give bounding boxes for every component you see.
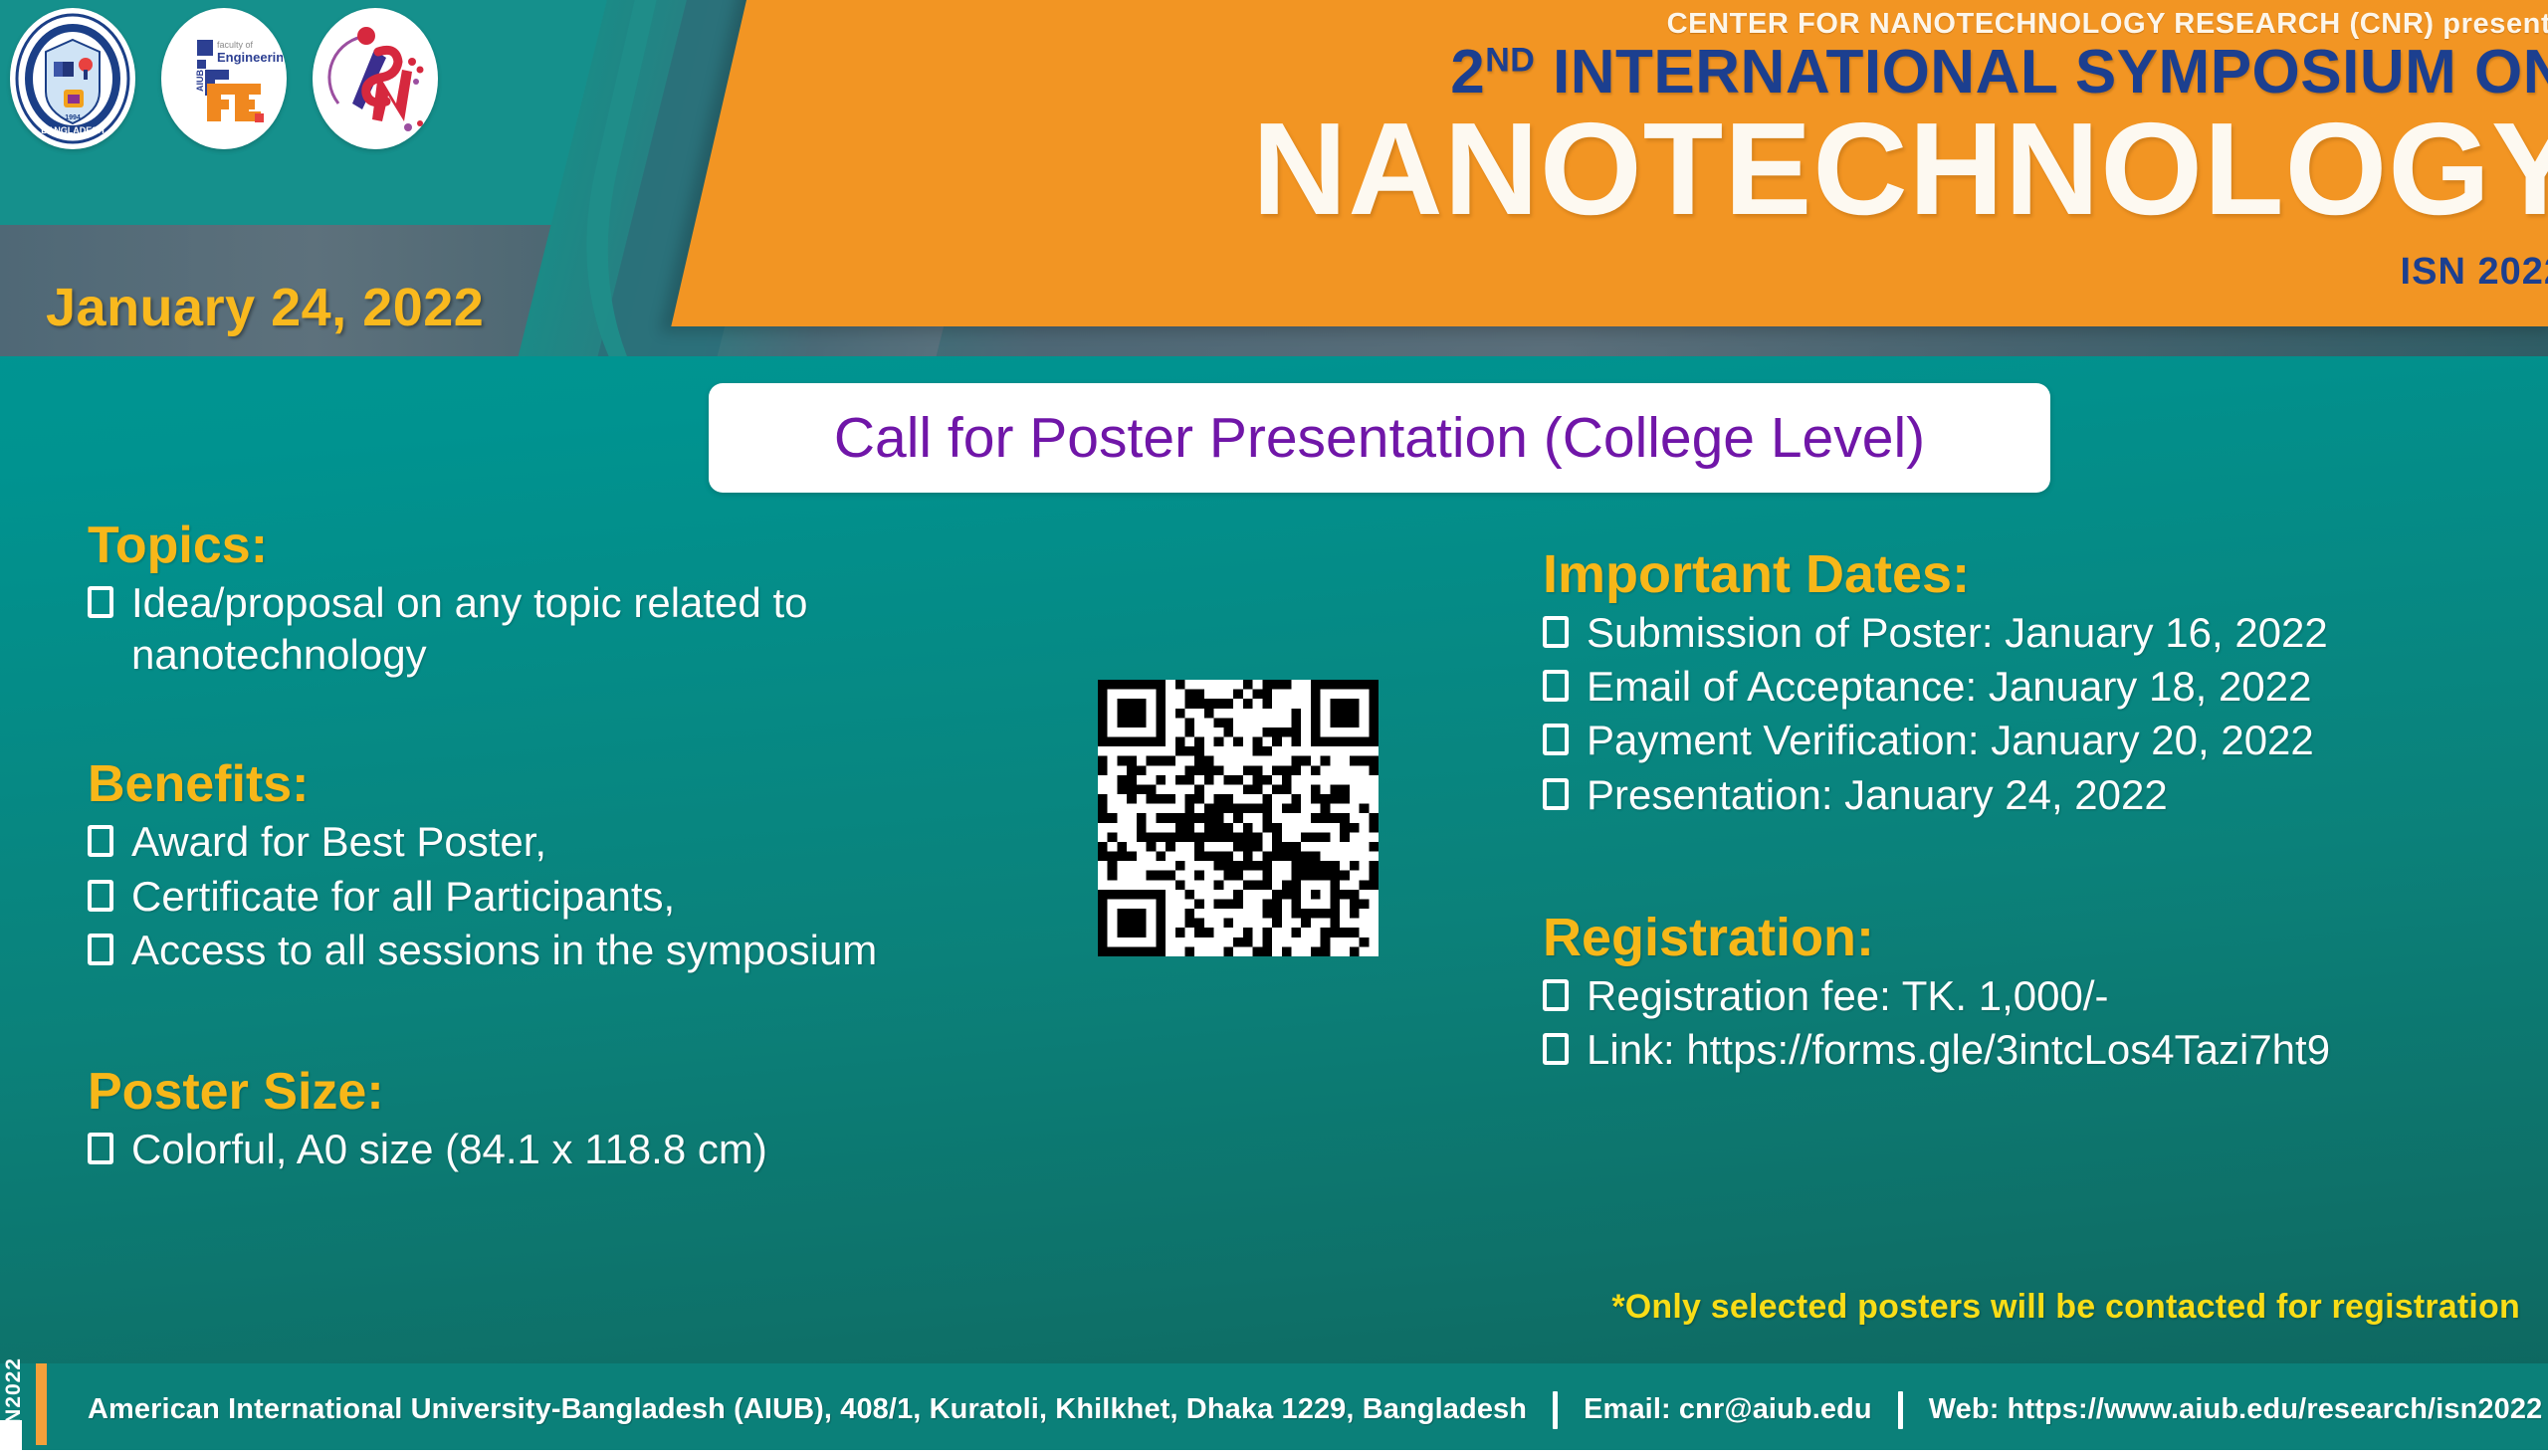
footer-separator [1553, 1391, 1558, 1429]
topics-heading: Topics: [88, 518, 1093, 573]
list-item: Idea/proposal on any topic related to na… [88, 577, 1093, 681]
poster-size-heading: Poster Size: [88, 1064, 1093, 1120]
list-item: Presentation: January 24, 2022 [1543, 769, 2518, 821]
list-item: Certificate for all Participants, [88, 871, 1093, 923]
main-title: NANOTECHNOLOGY [1252, 104, 2548, 235]
important-dates-heading: Important Dates: [1543, 545, 2518, 603]
event-date: January 24, 2022 [46, 277, 484, 338]
topics-list: Idea/proposal on any topic related to na… [88, 577, 1093, 681]
poster-size-section: Poster Size: Colorful, A0 size (84.1 x 1… [88, 1064, 1093, 1175]
list-item: Payment Verification: January 20, 2022 [1543, 715, 2518, 766]
important-dates-list: Submission of Poster: January 16, 2022 E… [1543, 607, 2518, 820]
list-item-label: Payment Verification: January 20, 2022 [1587, 715, 2314, 766]
footer-side-label: ISN2022 [2, 1357, 26, 1446]
svg-text:BANGLADESH: BANGLADESH [41, 125, 105, 135]
checkbox-bullet-icon [1543, 979, 1569, 1011]
footer-web[interactable]: Web: https://www.aiub.edu/research/isn20… [1929, 1393, 2543, 1426]
registration-list: Registration fee: TK. 1,000/- Link: http… [1543, 970, 2518, 1076]
checkbox-bullet-icon [1543, 616, 1569, 648]
logo-group: BANGLADESH 1994 faculty of Engineering A… [10, 8, 438, 149]
registration-heading: Registration: [1543, 909, 2518, 966]
benefits-list: Award for Best Poster, Certificate for a… [88, 816, 1093, 975]
svg-text:1994: 1994 [65, 114, 81, 121]
call-for-poster-title: Call for Poster Presentation (College Le… [834, 405, 1925, 471]
list-item-label: Award for Best Poster, [131, 816, 546, 868]
call-for-poster-title-box: Call for Poster Presentation (College Le… [709, 383, 2050, 493]
list-item-label: Idea/proposal on any topic related to na… [131, 577, 807, 681]
registration-qr-code[interactable] [1098, 680, 1379, 956]
event-tag: ISN 2022 [2401, 251, 2548, 294]
list-item: Submission of Poster: January 16, 2022 [1543, 607, 2518, 659]
list-item-label: Email of Acceptance: January 18, 2022 [1587, 661, 2311, 713]
checkbox-bullet-icon [88, 825, 113, 857]
list-item-label: Colorful, A0 size (84.1 x 118.8 cm) [131, 1124, 767, 1175]
header-title-group: CENTER FOR NANOTECHNOLOGY RESEARCH (CNR)… [836, 0, 2548, 326]
aiub-seal-logo: BANGLADESH 1994 [10, 8, 135, 149]
footer-baseline [0, 1450, 2548, 1456]
list-item-label: Access to all sessions in the symposium [131, 925, 877, 976]
header-banner: CENTER FOR NANOTECHNOLOGY RESEARCH (CNR)… [0, 0, 2548, 356]
footer-content: American International University-Bangla… [88, 1391, 2542, 1429]
benefits-section: Benefits: Award for Best Poster, Certifi… [88, 756, 1093, 975]
footer-address: American International University-Bangla… [88, 1393, 1527, 1426]
poster-size-list: Colorful, A0 size (84.1 x 118.8 cm) [88, 1124, 1093, 1175]
selection-note: *Only selected posters will be contacted… [1611, 1288, 2520, 1327]
important-dates-section: Important Dates: Submission of Poster: J… [1543, 545, 2518, 821]
checkbox-bullet-icon [88, 934, 113, 965]
registration-link-label: Link: https://forms.gle/3intcLos4Tazi7ht… [1587, 1024, 2330, 1076]
footer-orange-divider [36, 1363, 47, 1445]
list-item: Award for Best Poster, [88, 816, 1093, 868]
checkbox-bullet-icon [1543, 778, 1569, 810]
presenter-line: CENTER FOR NANOTECHNOLOGY RESEARCH (CNR)… [1667, 8, 2548, 41]
footer-bar: ISN2022 American International Universit… [0, 1363, 2548, 1456]
spacer [88, 978, 1093, 1064]
qr-canvas [1098, 680, 1379, 956]
right-column: Important Dates: Submission of Poster: J… [1543, 545, 2518, 1078]
isn-logo [313, 8, 438, 149]
spacer [1543, 823, 2518, 909]
symposium-line: 2ND INTERNATIONAL SYMPOSIUM ON [1450, 42, 2548, 104]
footer-email[interactable]: Email: cnr@aiub.edu [1584, 1393, 1872, 1426]
checkbox-bullet-icon [88, 1133, 113, 1164]
svg-text:AIUB: AIUB [195, 70, 205, 92]
svg-text:faculty of: faculty of [217, 40, 254, 50]
list-item-label: Submission of Poster: January 16, 2022 [1587, 607, 2328, 659]
faculty-of-engineering-logo: faculty of Engineering AIUB [161, 8, 287, 149]
left-column: Topics: Idea/proposal on any topic relat… [88, 518, 1093, 1177]
svg-text:Engineering: Engineering [217, 50, 283, 65]
list-item: Registration fee: TK. 1,000/- [1543, 970, 2518, 1022]
registration-link-item[interactable]: Link: https://forms.gle/3intcLos4Tazi7ht… [1543, 1024, 2518, 1076]
list-item: Access to all sessions in the symposium [88, 925, 1093, 976]
symposium-ordinal: ND [1485, 41, 1535, 79]
poster-root: CENTER FOR NANOTECHNOLOGY RESEARCH (CNR)… [0, 0, 2548, 1456]
list-item-label: Certificate for all Participants, [131, 871, 675, 923]
list-item-label: Registration fee: TK. 1,000/- [1587, 970, 2109, 1022]
checkbox-bullet-icon [88, 880, 113, 912]
topics-section: Topics: Idea/proposal on any topic relat… [88, 518, 1093, 681]
list-item: Colorful, A0 size (84.1 x 118.8 cm) [88, 1124, 1093, 1175]
checkbox-bullet-icon [1543, 1033, 1569, 1065]
spacer [88, 683, 1093, 756]
registration-section: Registration: Registration fee: TK. 1,00… [1543, 909, 2518, 1076]
checkbox-bullet-icon [1543, 724, 1569, 755]
list-item: Email of Acceptance: January 18, 2022 [1543, 661, 2518, 713]
checkbox-bullet-icon [88, 586, 113, 618]
footer-separator [1898, 1391, 1903, 1429]
checkbox-bullet-icon [1543, 670, 1569, 702]
benefits-heading: Benefits: [88, 756, 1093, 812]
list-item-label: Presentation: January 24, 2022 [1587, 769, 2168, 821]
